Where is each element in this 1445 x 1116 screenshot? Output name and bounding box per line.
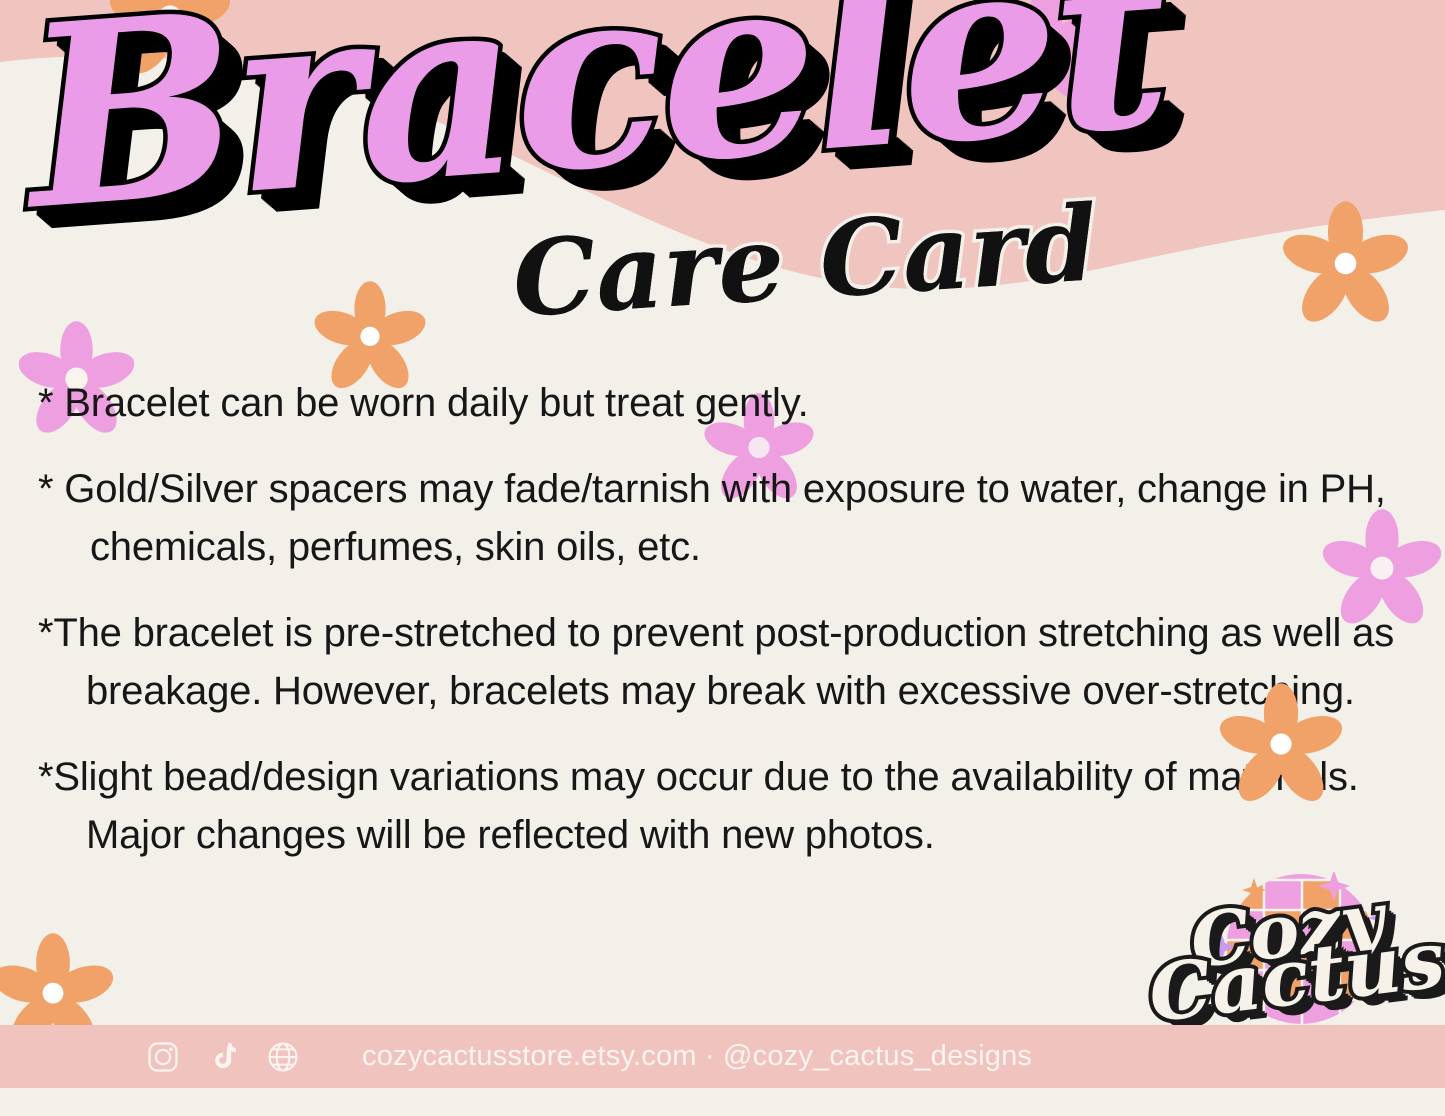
care-instructions-list: * Bracelet can be worn daily but treat g… [38, 374, 1418, 892]
care-point-1-text: * Bracelet can be worn daily but treat g… [38, 374, 1418, 432]
care-point-3-text: *The bracelet is pre-stretched to preven… [38, 604, 1418, 720]
care-point-4-text: *Slight bead/design variations may occur… [38, 748, 1418, 864]
globe-icon[interactable] [266, 1040, 300, 1074]
care-point-3: *The bracelet is pre-stretched to preven… [38, 604, 1418, 720]
care-point-4: *Slight bead/design variations may occur… [38, 748, 1418, 864]
care-point-1: * Bracelet can be worn daily but treat g… [38, 374, 1418, 432]
social-icon-group [146, 1040, 300, 1074]
title-block: Bracelet Care Card Care Card [0, 0, 1445, 380]
footer-bar: cozycactusstore.etsy.com · @cozy_cactus_… [0, 1025, 1445, 1088]
footer-contact-text: cozycactusstore.etsy.com · @cozy_cactus_… [362, 1040, 1032, 1073]
page-subtitle: Care Card [510, 191, 1100, 332]
care-point-2: * Gold/Silver spacers may fade/tarnish w… [38, 460, 1418, 576]
tiktok-icon[interactable] [206, 1040, 240, 1074]
bracelet-care-card: * Bracelet can be worn daily but treat g… [0, 0, 1445, 1116]
care-point-2-text: * Gold/Silver spacers may fade/tarnish w… [38, 460, 1418, 576]
instagram-icon[interactable] [146, 1040, 180, 1074]
